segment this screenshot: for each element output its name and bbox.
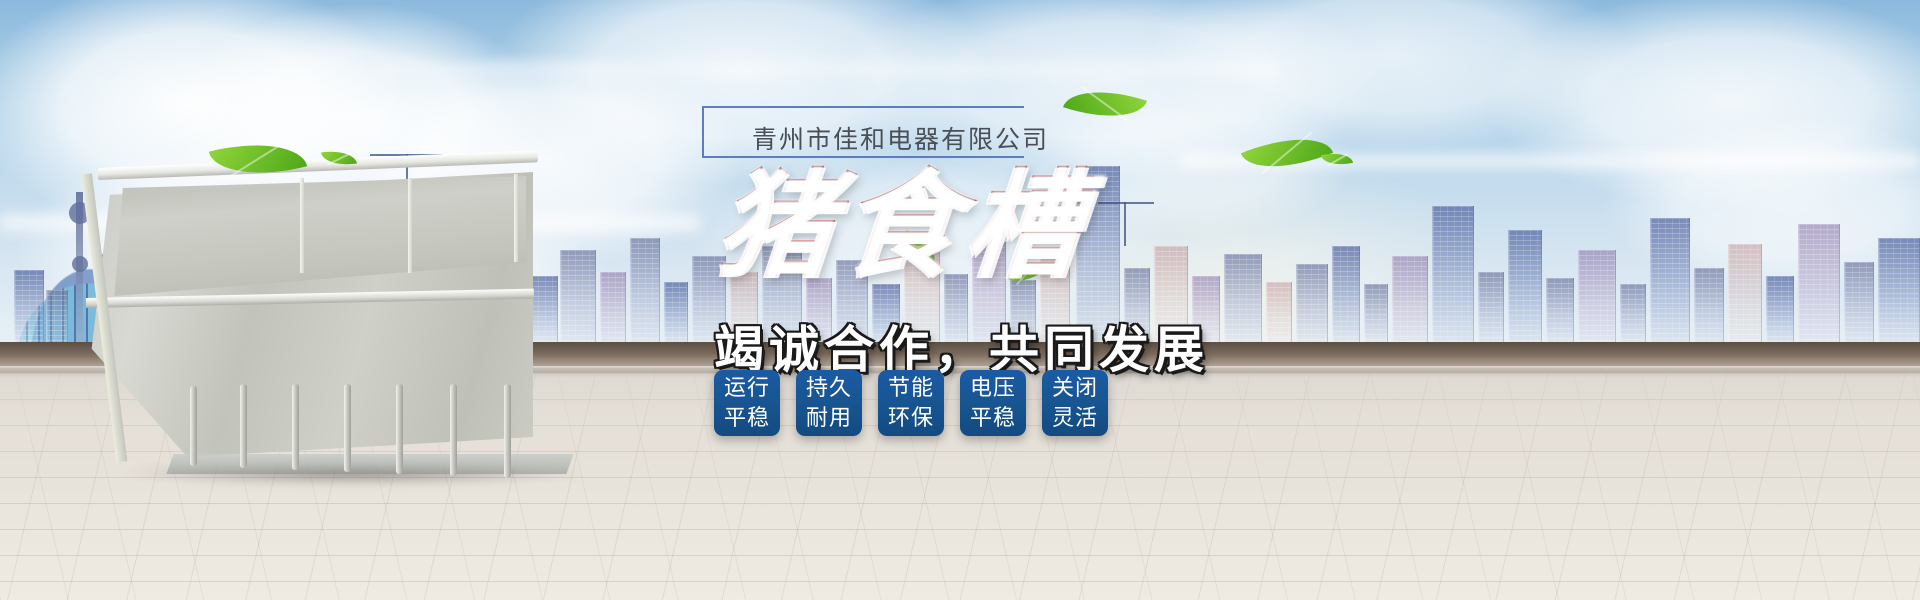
feature-badge[interactable]: 电压 平稳	[960, 370, 1026, 436]
trough-bar	[344, 384, 351, 472]
company-name: 青州市佳和电器有限公司	[752, 120, 1049, 156]
feature-badge[interactable]: 节能 环保	[878, 370, 944, 436]
badge-line-1: 持久	[806, 373, 852, 403]
badge-line-2: 灵活	[1052, 403, 1098, 433]
promo-banner: 青州市佳和电器有限公司 猪食槽 竭诚合作，共同发展 运行 平稳 持久 耐用 节能…	[0, 0, 1920, 600]
badge-line-2: 环保	[888, 403, 934, 433]
building	[1798, 224, 1840, 342]
page-title: 猪食槽	[713, 164, 1096, 287]
badge-line-1: 关闭	[1052, 373, 1098, 403]
building	[630, 238, 660, 342]
building	[664, 282, 688, 342]
trough-bar	[292, 384, 299, 470]
trough-divider	[408, 178, 412, 273]
trough-bar	[396, 384, 403, 474]
banner-copy: 青州市佳和电器有限公司 猪食槽 竭诚合作，共同发展 运行 平稳 持久 耐用 节能…	[700, 98, 1440, 578]
building	[1878, 238, 1920, 342]
building	[1578, 250, 1616, 342]
badge-line-1: 运行	[724, 373, 770, 403]
badge-line-1: 节能	[888, 373, 934, 403]
building	[1508, 230, 1542, 342]
product-image-trough	[78, 150, 598, 480]
building	[1620, 284, 1646, 342]
trough-bar	[450, 384, 457, 476]
building	[1728, 244, 1762, 342]
badge-line-2: 平稳	[970, 403, 1016, 433]
feature-badge[interactable]: 持久 耐用	[796, 370, 862, 436]
building	[1650, 218, 1690, 342]
badge-line-2: 平稳	[724, 403, 770, 433]
building	[1694, 268, 1724, 342]
trough-divider	[514, 174, 518, 262]
trough-bar	[190, 386, 197, 466]
trough-base-plate	[166, 454, 573, 474]
trough-bar	[504, 384, 511, 478]
feature-badge[interactable]: 关闭 灵活	[1042, 370, 1108, 436]
building	[1766, 276, 1794, 342]
building	[1546, 278, 1574, 342]
feature-badge-list: 运行 平稳 持久 耐用 节能 环保 电压 平稳 关闭 灵活	[714, 370, 1108, 436]
building	[600, 272, 626, 342]
building	[14, 270, 44, 342]
building	[1844, 262, 1874, 342]
trough-divider	[300, 178, 304, 273]
feature-badge[interactable]: 运行 平稳	[714, 370, 780, 436]
cloud-wisp	[380, 60, 1280, 78]
trough-bar	[240, 384, 247, 468]
building	[1478, 272, 1504, 342]
badge-line-2: 耐用	[806, 403, 852, 433]
badge-line-1: 电压	[970, 373, 1016, 403]
building	[46, 290, 68, 342]
